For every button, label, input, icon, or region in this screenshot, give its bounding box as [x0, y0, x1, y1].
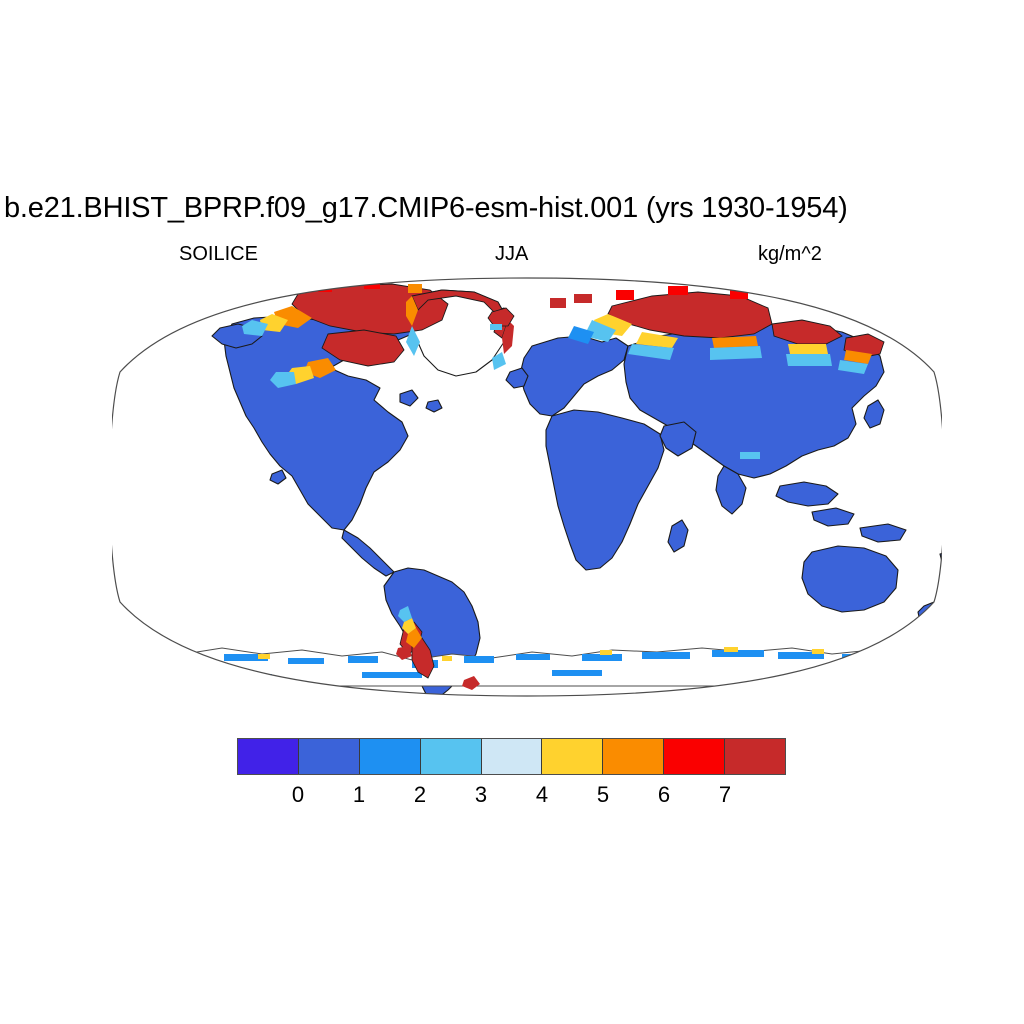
variable-label: SOILICE — [179, 243, 258, 265]
colorbar-cell-1[interactable] — [299, 739, 360, 774]
colorbar-tick-0: 0 — [292, 782, 304, 808]
tibet-soilice — [740, 452, 760, 459]
colorbar-cell-8[interactable] — [725, 739, 785, 774]
page-title: b.e21.BHIST_BPRP.f09_g17.CMIP6-esm-hist.… — [4, 192, 1020, 224]
colorbar-cell-4[interactable] — [482, 739, 543, 774]
colorbar-tick-labels: 01234567 — [237, 782, 786, 810]
colorbar-cell-7[interactable] — [664, 739, 725, 774]
colorbar-tick-5: 5 — [597, 782, 609, 808]
colorbar[interactable] — [237, 738, 786, 775]
colorbar-tick-2: 2 — [414, 782, 426, 808]
colorbar-cell-2[interactable] — [360, 739, 421, 774]
colorbar-cell-5[interactable] — [542, 739, 603, 774]
units-label: kg/m^2 — [758, 243, 822, 265]
colorbar-tick-7: 7 — [719, 782, 731, 808]
colorbar-tick-6: 6 — [658, 782, 670, 808]
season-label: JJA — [495, 243, 528, 265]
colorbar-tick-1: 1 — [353, 782, 365, 808]
colorbar-tick-3: 3 — [475, 782, 487, 808]
map-plot-area — [112, 276, 942, 698]
climate-map-figure: b.e21.BHIST_BPRP.f09_g17.CMIP6-esm-hist.… — [0, 0, 1024, 1024]
colorbar-tick-4: 4 — [536, 782, 548, 808]
colorbar-cell-6[interactable] — [603, 739, 664, 774]
colorbar-cell-0[interactable] — [238, 739, 299, 774]
colorbar-cell-3[interactable] — [421, 739, 482, 774]
world-map — [112, 276, 942, 698]
